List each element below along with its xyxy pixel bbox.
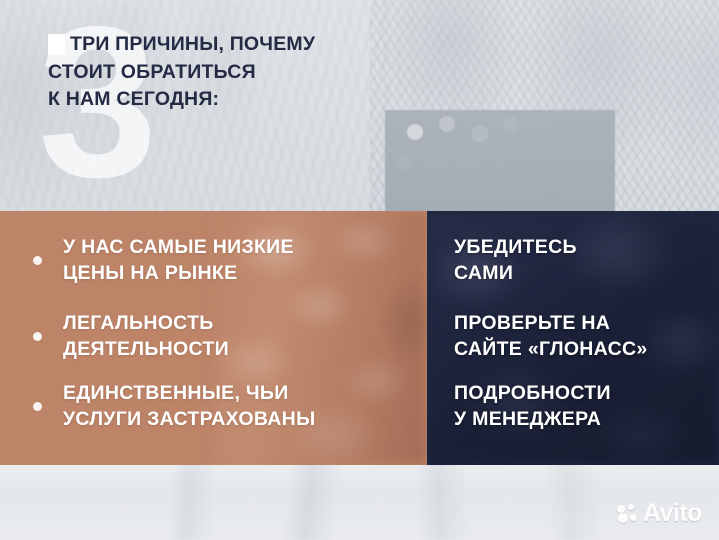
- bullet-dot-icon: [33, 402, 42, 411]
- headline-line-1: ТРИ ПРИЧИНЫ, ПОЧЕМУ: [48, 31, 448, 59]
- list-item-line-2: У МЕНЕДЖЕРА: [454, 407, 611, 433]
- panels-row: У НАС САМЫЕ НИЗКИЕ ЦЕНЫ НА РЫНКЕ ЛЕГАЛЬН…: [0, 211, 719, 465]
- list-item-text: ЛЕГАЛЬНОСТЬ ДЕЯТЕЛЬНОСТИ: [63, 311, 229, 363]
- actions-panel: УБЕДИТЕСЬ САМИ ПРОВЕРЬТЕ НА САЙТЕ «ГЛОНА…: [427, 211, 719, 465]
- list-item: УБЕДИТЕСЬ САМИ: [454, 235, 577, 287]
- list-item-text: У НАС САМЫЕ НИЗКИЕ ЦЕНЫ НА РЫНКЕ: [63, 235, 294, 287]
- list-item: ПОДРОБНОСТИ У МЕНЕДЖЕРА: [454, 381, 611, 433]
- list-item-line-2: УСЛУГИ ЗАСТРАХОВАНЫ: [63, 407, 315, 433]
- headline-line-2: СТОИТ ОБРАТИТЬСЯ: [48, 59, 448, 87]
- benefits-panel: У НАС САМЫЕ НИЗКИЕ ЦЕНЫ НА РЫНКЕ ЛЕГАЛЬН…: [0, 211, 427, 465]
- avito-logo-icon: [617, 504, 638, 523]
- bullet-dot-icon: [33, 256, 42, 265]
- list-item-line-2: ДЕЯТЕЛЬНОСТИ: [63, 337, 229, 363]
- list-item: У НАС САМЫЕ НИЗКИЕ ЦЕНЫ НА РЫНКЕ: [33, 235, 294, 287]
- list-item-line-2: САЙТЕ «ГЛОНАСС»: [454, 337, 647, 363]
- list-item-line-1: ЛЕГАЛЬНОСТЬ: [63, 311, 229, 337]
- avito-dot-3: [618, 513, 628, 523]
- avito-watermark: Avito: [617, 501, 702, 526]
- list-item-text: ПОДРОБНОСТИ У МЕНЕДЖЕРА: [454, 381, 611, 433]
- promo-poster: 3 ТРИ ПРИЧИНЫ, ПОЧЕМУ СТОИТ ОБРАТИТЬСЯ К…: [0, 0, 719, 540]
- list-item-text: ЕДИНСТВЕННЫЕ, ЧЬИ УСЛУГИ ЗАСТРАХОВАНЫ: [63, 381, 315, 433]
- headline-accent-bar: [48, 34, 65, 55]
- list-item-text: ПРОВЕРЬТЕ НА САЙТЕ «ГЛОНАСС»: [454, 311, 647, 363]
- background-road-tracks: [0, 462, 719, 540]
- list-item-line-1: ЕДИНСТВЕННЫЕ, ЧЬИ: [63, 381, 315, 407]
- actions-list: УБЕДИТЕСЬ САМИ ПРОВЕРЬТЕ НА САЙТЕ «ГЛОНА…: [427, 211, 719, 465]
- list-item-line-1: УБЕДИТЕСЬ: [454, 235, 577, 261]
- avito-dot-1: [617, 505, 625, 513]
- list-item-line-2: САМИ: [454, 261, 577, 287]
- list-item: ПРОВЕРЬТЕ НА САЙТЕ «ГЛОНАСС»: [454, 311, 647, 363]
- page-title: ТРИ ПРИЧИНЫ, ПОЧЕМУ СТОИТ ОБРАТИТЬСЯ К Н…: [48, 31, 448, 114]
- avito-dot-2: [628, 504, 634, 510]
- list-item: ЛЕГАЛЬНОСТЬ ДЕЯТЕЛЬНОСТИ: [33, 311, 229, 363]
- headline-block: ТРИ ПРИЧИНЫ, ПОЧЕМУ СТОИТ ОБРАТИТЬСЯ К Н…: [48, 31, 448, 114]
- avito-wordmark: Avito: [643, 501, 702, 526]
- list-item-text: УБЕДИТЕСЬ САМИ: [454, 235, 577, 287]
- list-item: ЕДИНСТВЕННЫЕ, ЧЬИ УСЛУГИ ЗАСТРАХОВАНЫ: [33, 381, 315, 433]
- list-item-line-1: У НАС САМЫЕ НИЗКИЕ: [63, 235, 294, 261]
- list-item-line-2: ЦЕНЫ НА РЫНКЕ: [63, 261, 294, 287]
- list-item-line-1: ПОДРОБНОСТИ: [454, 381, 611, 407]
- bullet-dot-icon: [33, 332, 42, 341]
- headline-line-3: К НАМ СЕГОДНЯ:: [48, 86, 448, 114]
- benefits-list: У НАС САМЫЕ НИЗКИЕ ЦЕНЫ НА РЫНКЕ ЛЕГАЛЬН…: [0, 211, 427, 465]
- list-item-line-1: ПРОВЕРЬТЕ НА: [454, 311, 647, 337]
- avito-dot-4: [630, 514, 637, 521]
